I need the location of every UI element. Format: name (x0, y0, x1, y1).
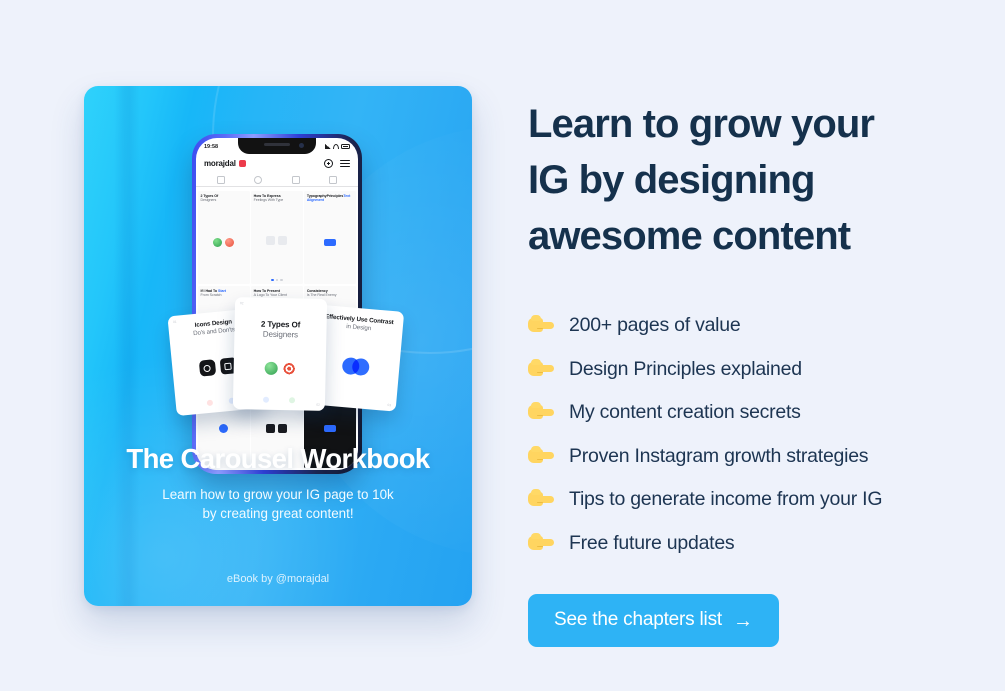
grid-post-sub: Is The Real Enemy (307, 293, 354, 297)
phone-status-bar: 19:58 (196, 139, 358, 154)
grid-post-title: Consistency (307, 289, 328, 293)
list-item: Free future updates (528, 530, 958, 556)
grid-post-art (307, 204, 354, 281)
feature-list: 200+ pages of value Design Principles ex… (528, 312, 958, 556)
wifi-icon (333, 144, 339, 149)
instagram-profile-header: morajdal (196, 155, 358, 172)
pointing-hand-icon (528, 315, 554, 335)
menu-icon (340, 160, 350, 168)
list-item: My content creation secrets (528, 399, 958, 425)
tagged-tab-icon (292, 176, 300, 184)
see-chapters-list-button[interactable]: See the chapters list → (528, 594, 779, 647)
list-item: Proven Instagram growth strategies (528, 443, 958, 469)
status-icons (325, 144, 350, 149)
card-corner-mark: 02 (240, 301, 244, 305)
page-title: Learn to grow your IG by designing aweso… (528, 96, 958, 264)
battery-icon (341, 144, 350, 149)
status-time: 19:58 (204, 144, 218, 150)
grid-tab-icon (217, 176, 225, 184)
grid-post: TypographyPrinciplesText Alignment (304, 191, 356, 284)
card-corner-mark: 03 (387, 403, 391, 407)
grid-post-accent: Start (218, 289, 226, 293)
feature-label: Proven Instagram growth strategies (569, 443, 868, 469)
grid-post-dots (254, 279, 301, 282)
feature-label: My content creation secrets (569, 399, 801, 425)
card-marks (240, 396, 318, 404)
feature-label: Free future updates (569, 530, 734, 556)
grid-post-art (254, 204, 301, 277)
book-cover: 19:58 morajdal (84, 86, 472, 606)
grid-post-title: How To Present (254, 289, 280, 293)
cta-label: See the chapters list (554, 609, 722, 631)
carousel-card: 02 2 Types OfDesigners 02 (233, 297, 327, 411)
dot-marker-icon (289, 397, 295, 403)
venn-diagram-icon (341, 356, 369, 375)
profile-name: morajdal (204, 159, 236, 168)
profile-user: morajdal (204, 159, 246, 168)
grid-post: 2 Types OfDesigners (198, 191, 250, 284)
add-post-icon (324, 159, 333, 168)
floating-carousel-cards: 01 Icons DesignDo's and Don'ts 02 2 Type… (172, 298, 392, 418)
pointing-hand-icon (528, 489, 554, 509)
grid-post-title: Typography (307, 194, 327, 198)
cover-subtitle: Learn how to grow your IG page to 10k by… (84, 486, 472, 523)
grid-post-sub: Principles (327, 194, 344, 198)
verified-dot-icon (239, 160, 246, 167)
pointing-hand-icon (528, 402, 554, 422)
card-sub: Designers (263, 329, 298, 339)
pointing-hand-icon (528, 446, 554, 466)
list-item: Design Principles explained (528, 356, 958, 382)
grid-post-title: How To Express (254, 194, 281, 198)
grid-post-title: 2 Types Of (201, 194, 219, 198)
list-item: Tips to generate income from your IG (528, 486, 958, 512)
card-art (315, 328, 395, 404)
pointing-hand-icon (528, 533, 554, 553)
arrow-right-icon: → (733, 612, 753, 630)
card-corner-mark: 02 (316, 403, 320, 407)
grid-post-title: If I Had To (201, 289, 218, 293)
book-cover-visual: 19:58 morajdal (84, 86, 472, 606)
cover-title: The Carousel Workbook (84, 443, 472, 475)
list-item: 200+ pages of value (528, 312, 958, 338)
pointing-hand-icon (528, 359, 554, 379)
feature-label: Tips to generate income from your IG (569, 486, 882, 512)
saved-tab-icon (329, 176, 337, 184)
cross-mark-icon (207, 400, 214, 407)
clock-tab-icon (254, 176, 262, 184)
signal-icon (325, 144, 331, 149)
dot-marker-icon (263, 397, 269, 403)
grid-post-sub: Designers (201, 198, 248, 202)
card-title: 2 Types Of (261, 320, 300, 330)
grid-post-sub: Feelings With Type (254, 198, 301, 202)
landing-page: 19:58 morajdal (0, 0, 1005, 691)
profile-tabs (196, 174, 358, 187)
target-icon (282, 362, 295, 375)
feature-label: Design Principles explained (569, 356, 802, 382)
cover-credit: eBook by @morajdal (84, 573, 472, 585)
header-actions (324, 159, 350, 168)
grid-post-art (201, 204, 248, 281)
card-art (240, 338, 319, 398)
feature-label: 200+ pages of value (569, 312, 740, 338)
icon-sample-circle (198, 359, 215, 376)
grid-post: How To ExpressFeelings With Type (251, 191, 303, 284)
money-bag-icon (264, 361, 277, 374)
card-corner-mark: 01 (173, 320, 177, 324)
hero-content: Learn to grow your IG by designing aweso… (528, 96, 958, 647)
